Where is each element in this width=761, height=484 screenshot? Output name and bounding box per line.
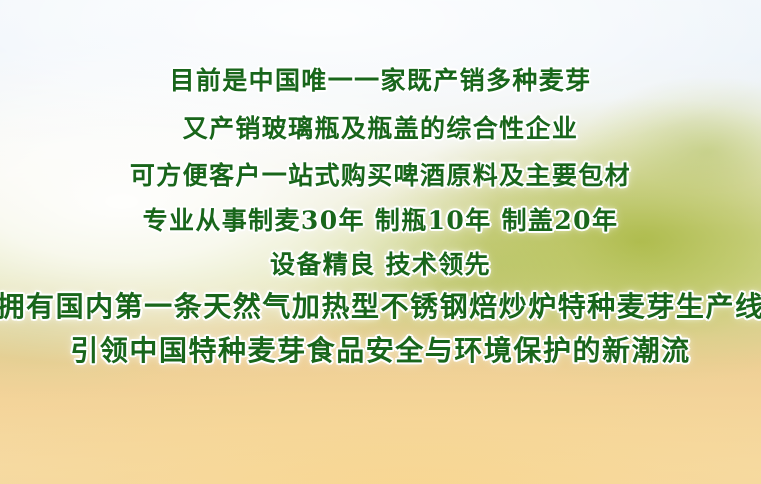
slogan-line-6: 拥有国内第一条天然气加热型不锈钢焙炒炉特种麦芽生产线 [0,293,761,321]
slogan-block: 目前是中国唯一一家既产销多种麦芽 又产销玻璃瓶及瓶盖的综合性企业 可方便客户一站… [0,0,761,484]
slogan-line-4: 专业从事制麦30年 制瓶10年 制盖20年 [143,208,619,233]
slogan-line-5: 设备精良 技术领先 [270,252,491,277]
slogan-line-7: 引领中国特种麦芽食品安全与环境保护的新潮流 [70,337,690,365]
promo-banner: 目前是中国唯一一家既产销多种麦芽 又产销玻璃瓶及瓶盖的综合性企业 可方便客户一站… [0,0,761,484]
slogan-line-1: 目前是中国唯一一家既产销多种麦芽 [169,68,591,93]
slogan-line-3: 可方便客户一站式购买啤酒原料及主要包材 [130,163,631,188]
slogan-line-2: 又产销玻璃瓶及瓶盖的综合性企业 [183,116,579,141]
